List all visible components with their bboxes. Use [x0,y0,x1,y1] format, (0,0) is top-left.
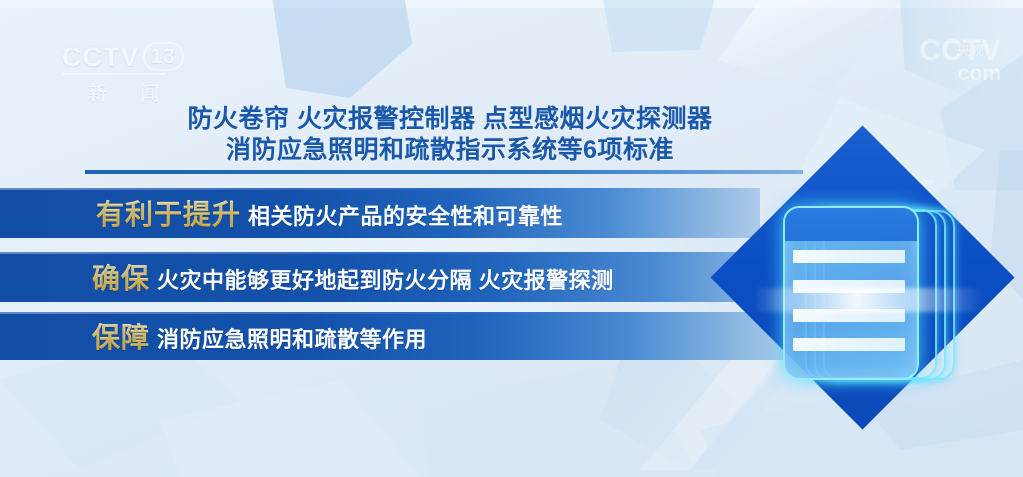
point-bar-3: 保障消防应急照明和疏散等作用 [0,312,790,360]
cctv-logo-wordmark: CCTV13 [62,42,222,72]
headline-line-1: 防火卷帘 火灾报警控制器 点型感烟火灾探测器 [0,104,900,135]
document-text-line-1 [793,250,905,263]
watermark-chinese: 央视网 [957,40,999,59]
document-text-line-2 [793,280,905,293]
point-3-keyword: 保障 [92,322,150,353]
cctv-logo-rule [62,73,166,75]
point-bar-3-text: 保障消防应急照明和疏散等作用 [92,316,427,356]
cctv-logo-number: 13 [143,42,184,71]
bar-gap-2 [0,302,770,312]
document-graphic [735,160,1023,460]
document-page-front [783,206,919,380]
point-bar-1-text: 有利于提升相关防火产品的安全性和可靠性 [96,193,563,233]
point-3-description: 消防应急照明和疏散等作用 [157,327,427,352]
headline: 防火卷帘 火灾报警控制器 点型感烟火灾探测器 消防应急照明和疏散指示系统等6项标… [0,104,900,166]
point-bar-1-highlight [0,188,760,190]
point-bar-2-text: 确保火灾中能够更好地起到防火分隔 火灾报警探测 [92,257,614,297]
point-bar-2: 确保火灾中能够更好地起到防火分隔 火灾报警探测 [0,252,820,302]
cctv-logo-text: CCTV [62,42,140,72]
point-bar-2-highlight [0,252,820,254]
cctv-com-watermark: CCTV 央视网 com [919,38,1001,84]
point-2-description: 火灾中能够更好地起到防火分隔 火灾报警探测 [157,268,614,293]
broadcast-graphic-slide: CCTV13 新 闻 CCTV 央视网 com 防火卷帘 火灾报警控制器 点型感… [0,0,1023,477]
document-stack-icon [783,206,953,382]
headline-divider [85,170,803,174]
point-bar-1: 有利于提升相关防火产品的安全性和可靠性 [0,188,760,238]
point-1-description: 相关防火产品的安全性和可靠性 [248,204,563,229]
bar-gap-1 [0,238,745,252]
document-text-line-3 [793,309,905,322]
point-bar-3-highlight [0,312,790,314]
cctv-13-logo: CCTV13 新 闻 [62,42,222,104]
document-text-line-4 [793,338,905,351]
watermark-domain: com [919,64,1001,84]
point-1-keyword: 有利于提升 [96,199,241,230]
cctv-logo-subtitle: 新 闻 [62,79,222,106]
document-header-band [785,208,917,241]
point-2-keyword: 确保 [92,263,150,294]
